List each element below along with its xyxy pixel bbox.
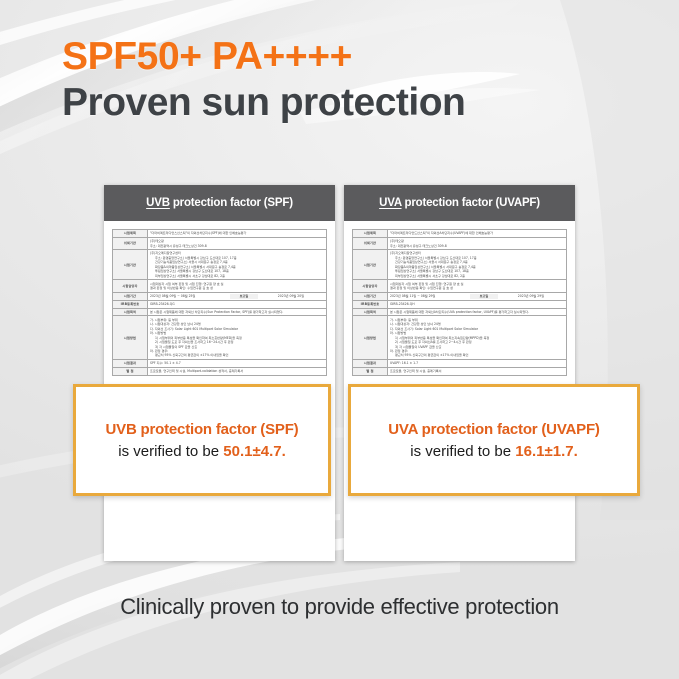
headline-block: SPF50+ PA++++ Proven sun protection	[62, 36, 622, 125]
report-date-label: 보고일	[470, 294, 498, 298]
table-row: 시험제목 "더마비렉트라디언스선스틱"의 자외선차단지수(SPF)에 대한 인체…	[113, 230, 327, 238]
uvapf-value: 16.1±1.7.	[515, 443, 577, 460]
row-label: 시험기관	[113, 250, 148, 280]
row-label: 시험제목	[353, 230, 388, 238]
method-line: 나. 시험대상자: 건강한 성인 남녀 24명	[150, 322, 201, 326]
table-row: 시험방법 가. 시험부위: 등 부위 나. 시험대상자: 건강한 성인 남녀 2…	[113, 316, 327, 360]
row-label: 시험담당자	[353, 280, 388, 292]
table-row: 시험결과 UVAPF: 16.1 ± 1.7	[353, 360, 567, 368]
row-label: 시험기관	[353, 250, 388, 280]
row-value: (주)테오광 주소: 대전광역시 유성구 테크노상건 309-8	[148, 237, 327, 249]
staff-line: 결과 판정 및 이상반응 확인: 수임연구원 김 효 성	[150, 286, 213, 290]
uvapf-title-rest: protection factor (UVAPF)	[402, 197, 540, 209]
table-row: 시험담당자 시험대상자 시험 여부 판정 및 시험 진행: 연구원 양 효 실 …	[353, 280, 567, 292]
test-period-value: 2023년 08월 09일 ~ 08월 25일	[150, 294, 230, 298]
spf-card-header: UVB protection factor (SPF)	[104, 185, 335, 221]
method-line: 3) 각 시험물질의 UVAPF 값을 산출	[390, 345, 564, 349]
spf-value: 50.1±4.7.	[223, 443, 285, 460]
headline-subtitle: Proven sun protection	[62, 81, 622, 125]
method-line: 라. 시험방법	[390, 331, 406, 335]
row-label: 시험목적	[113, 308, 148, 316]
row-value: 2023년 08월 09일 ~ 08월 25일 보고일 2023년 09월 20…	[148, 292, 327, 300]
result-value: SPF 지수: 50.1 ± 4.7	[148, 360, 327, 368]
spf-title-rest: protection factor (SPF)	[170, 197, 293, 209]
method-line: 가. 시험부위: 등 부위	[390, 318, 418, 322]
institute-name: (주)지오메디칼연구센터	[390, 251, 421, 255]
irb-value: GIRB-23426-QG	[148, 300, 327, 308]
row-label: 시험목적	[353, 308, 388, 316]
irb-value: GIRB-23426-QH	[388, 300, 567, 308]
report-date-label: 보고일	[230, 294, 258, 298]
table-row: 시험제목 "더마비렉트라디언드선스틱"의 자외선A차단지수(UVAPF)에 대한…	[353, 230, 567, 238]
footer-caption: Clinically proven to provide effective p…	[0, 594, 679, 620]
uvapf-result-callout: UVA protection factor (UVAPF) is verifie…	[348, 384, 640, 496]
client-address: 주소: 대전광역시 유성구 테크노상건 309-8	[150, 244, 207, 248]
row-value: 2023년 08월 11일 ~ 08월 29일 보고일 2023년 09월 29…	[388, 292, 567, 300]
test-period-value: 2023년 08월 11일 ~ 08월 29일	[390, 294, 470, 298]
uvapf-callout-title: UVA protection factor (UVAPF)	[388, 421, 599, 438]
row-label: 시험기간	[113, 292, 148, 300]
purpose-value: 본 시험은 시험제품에 대한 자외선A차단지수(UVA protection f…	[388, 308, 567, 316]
uvapf-verified-prefix: is verified to be	[410, 443, 515, 460]
row-label: 별 첨	[353, 368, 388, 376]
row-label: IRB등록번호	[113, 300, 148, 308]
method-line: 평근치 95% 신뢰구간의 평균값의 ±17% 이내임을 확인	[390, 353, 564, 357]
table-row: 의뢰기관 (주)테오광 주소: 대전광역시 유성구 테크노상건 309-8	[353, 237, 567, 249]
row-value: 시험대상자 시험 여부 판정 및 시험 진행: 연구원 양 효 실 결과 판정 …	[148, 280, 327, 292]
row-label: 시험담당자	[113, 280, 148, 292]
spf-verified-prefix: is verified to be	[118, 443, 223, 460]
row-value: "더마비렉트라디언스선스틱"의 자외선차단지수(SPF)에 대한 인체효능평가	[148, 230, 327, 238]
table-row: 별 첨 프로토콜, 연구인력 및 시설, Multiport-validatio…	[113, 368, 327, 376]
headline-spf-rating: SPF50+ PA++++	[62, 36, 622, 77]
institute-address: 피부임상연구소) 서울특별시 서초구 강남대로 82, 2층	[150, 274, 324, 278]
spf-certificate-card: UVB protection factor (SPF) 시험제목 "더마비렉트라…	[104, 185, 335, 561]
method-line: 라. 시험방법	[150, 331, 166, 335]
table-row: IRB등록번호 GIRB-23426-QH	[353, 300, 567, 308]
table-row: 시험담당자 시험대상자 시험 여부 판정 및 시험 진행: 연구원 양 효 실 …	[113, 280, 327, 292]
row-label: 의뢰기관	[353, 237, 388, 249]
staff-line: 결과 판정 및 이상반응 확인: 수임연구원 김 효 성	[390, 286, 453, 290]
spf-report-table: 시험제목 "더마비렉트라디언스선스틱"의 자외선차단지수(SPF)에 대한 인체…	[112, 229, 327, 376]
table-row: IRB등록번호 GIRB-23426-QG	[113, 300, 327, 308]
table-row: 시험기관 (주)지오메디칼연구센터 주소: 환경중앙연구소) 서울특별시 강남구…	[353, 250, 567, 280]
method-line: 3) 각 시험물질의 SPF 값을 산출	[150, 345, 324, 349]
uvapf-report-table: 시험제목 "더마비렉트라디언드선스틱"의 자외선A차단지수(UVAPF)에 대한…	[352, 229, 567, 376]
row-label: 시험제목	[113, 230, 148, 238]
row-value: (주)지오메디칼연구센터 주소: 환경중앙연구소) 서울특별시 강남구 도산대로…	[388, 250, 567, 280]
row-label: IRB등록번호	[353, 300, 388, 308]
table-row: 시험기간 2023년 08월 09일 ~ 08월 25일 보고일 2023년 0…	[113, 292, 327, 300]
uvapf-title-underlined: UVA	[379, 197, 401, 209]
spf-title-underlined: UVB	[146, 197, 170, 209]
method-line: 평근치 95% 신뢰구간의 평균값의 ±17% 이내임을 확인	[150, 353, 324, 357]
row-label: 시험방법	[353, 316, 388, 360]
method-line: 가. 시험부위: 등 부위	[150, 318, 178, 322]
row-label: 시험기간	[353, 292, 388, 300]
row-label: 시험방법	[113, 316, 148, 360]
uvapf-callout-statement: is verified to be 16.1±1.7.	[410, 443, 578, 460]
table-row: 시험결과 SPF 지수: 50.1 ± 4.7	[113, 360, 327, 368]
row-label: 별 첨	[113, 368, 148, 376]
uvapf-certificate-card: UVA protection factor (UVAPF) 시험제목 "더마비렉…	[344, 185, 575, 561]
institute-name: (주)지오메디칼연구센터	[150, 251, 181, 255]
row-label: 시험결과	[113, 360, 148, 368]
uvapf-card-header: UVA protection factor (UVAPF)	[344, 185, 575, 221]
table-row: 시험기관 (주)지오메디칼연구센터 주소: 환경중앙연구소) 서울특별시 강남구…	[113, 250, 327, 280]
row-label: 시험결과	[353, 360, 388, 368]
method-line: 다. 자외선 조사기: Solar Light 601 Multiport So…	[390, 327, 478, 331]
row-value: (주)지오메디칼연구센터 주소: 환경중앙연구소) 서울특별시 강남구 도산대로…	[148, 250, 327, 280]
result-value: UVAPF: 16.1 ± 1.7	[388, 360, 567, 368]
spf-callout-title: UVB protection factor (SPF)	[106, 421, 299, 438]
attachment-value: 프로토콜, 연구인력 및 시설, 증례기록서	[388, 368, 567, 376]
spf-callout-statement: is verified to be 50.1±4.7.	[118, 443, 286, 460]
institute-address: 피부임상연구소) 서울특별시 서초구 강남대로 82, 2층	[390, 274, 564, 278]
spf-result-callout: UVB protection factor (SPF) is verified …	[73, 384, 331, 496]
attachment-value: 프로토콜, 연구인력 및 시설, Multiport-validation 성적…	[148, 368, 327, 376]
report-date-value: 2023년 09월 20일	[258, 294, 324, 298]
certificate-cards: UVB protection factor (SPF) 시험제목 "더마비렉트라…	[104, 185, 575, 561]
table-row: 시험목적 본 시험은 시험제품에 대한 자외선 차단지수(Sun Protect…	[113, 308, 327, 316]
method-line: 나. 시험대상자: 건강한 성인 남녀 24명	[390, 322, 441, 326]
table-row: 시험방법 가. 시험부위: 등 부위 나. 시험대상자: 건강한 성인 남녀 2…	[353, 316, 567, 360]
row-value: "더마비렉트라디언드선스틱"의 자외선A차단지수(UVAPF)에 대한 인체효능…	[388, 230, 567, 238]
table-row: 별 첨 프로토콜, 연구인력 및 시설, 증례기록서	[353, 368, 567, 376]
row-value: 가. 시험부위: 등 부위 나. 시험대상자: 건강한 성인 남녀 24명 다.…	[148, 316, 327, 360]
row-value: 가. 시험부위: 등 부위 나. 시험대상자: 건강한 성인 남녀 24명 다.…	[388, 316, 567, 360]
client-address: 주소: 대전광역시 유성구 테크노상건 309-8	[390, 244, 447, 248]
client-name: (주)테오광	[390, 239, 404, 243]
uvapf-card-title: UVA protection factor (UVAPF)	[379, 197, 540, 209]
table-row: 의뢰기관 (주)테오광 주소: 대전광역시 유성구 테크노상건 309-8	[113, 237, 327, 249]
table-row: 시험기간 2023년 08월 11일 ~ 08월 29일 보고일 2023년 0…	[353, 292, 567, 300]
method-line: 다. 자외선 조사기: Solar Light 601 Multiport So…	[150, 327, 238, 331]
row-label: 의뢰기관	[113, 237, 148, 249]
table-row: 시험목적 본 시험은 시험제품에 대한 자외선A차단지수(UVA protect…	[353, 308, 567, 316]
row-value: 시험대상자 시험 여부 판정 및 시험 진행: 연구원 양 효 실 결과 판정 …	[388, 280, 567, 292]
row-value: (주)테오광 주소: 대전광역시 유성구 테크노상건 309-8	[388, 237, 567, 249]
spf-card-title: UVB protection factor (SPF)	[146, 197, 293, 209]
purpose-value: 본 시험은 시험제품에 대한 자외선 차단지수(Sun Protection F…	[148, 308, 327, 316]
report-date-value: 2023년 09월 29일	[498, 294, 564, 298]
client-name: (주)테오광	[150, 239, 164, 243]
